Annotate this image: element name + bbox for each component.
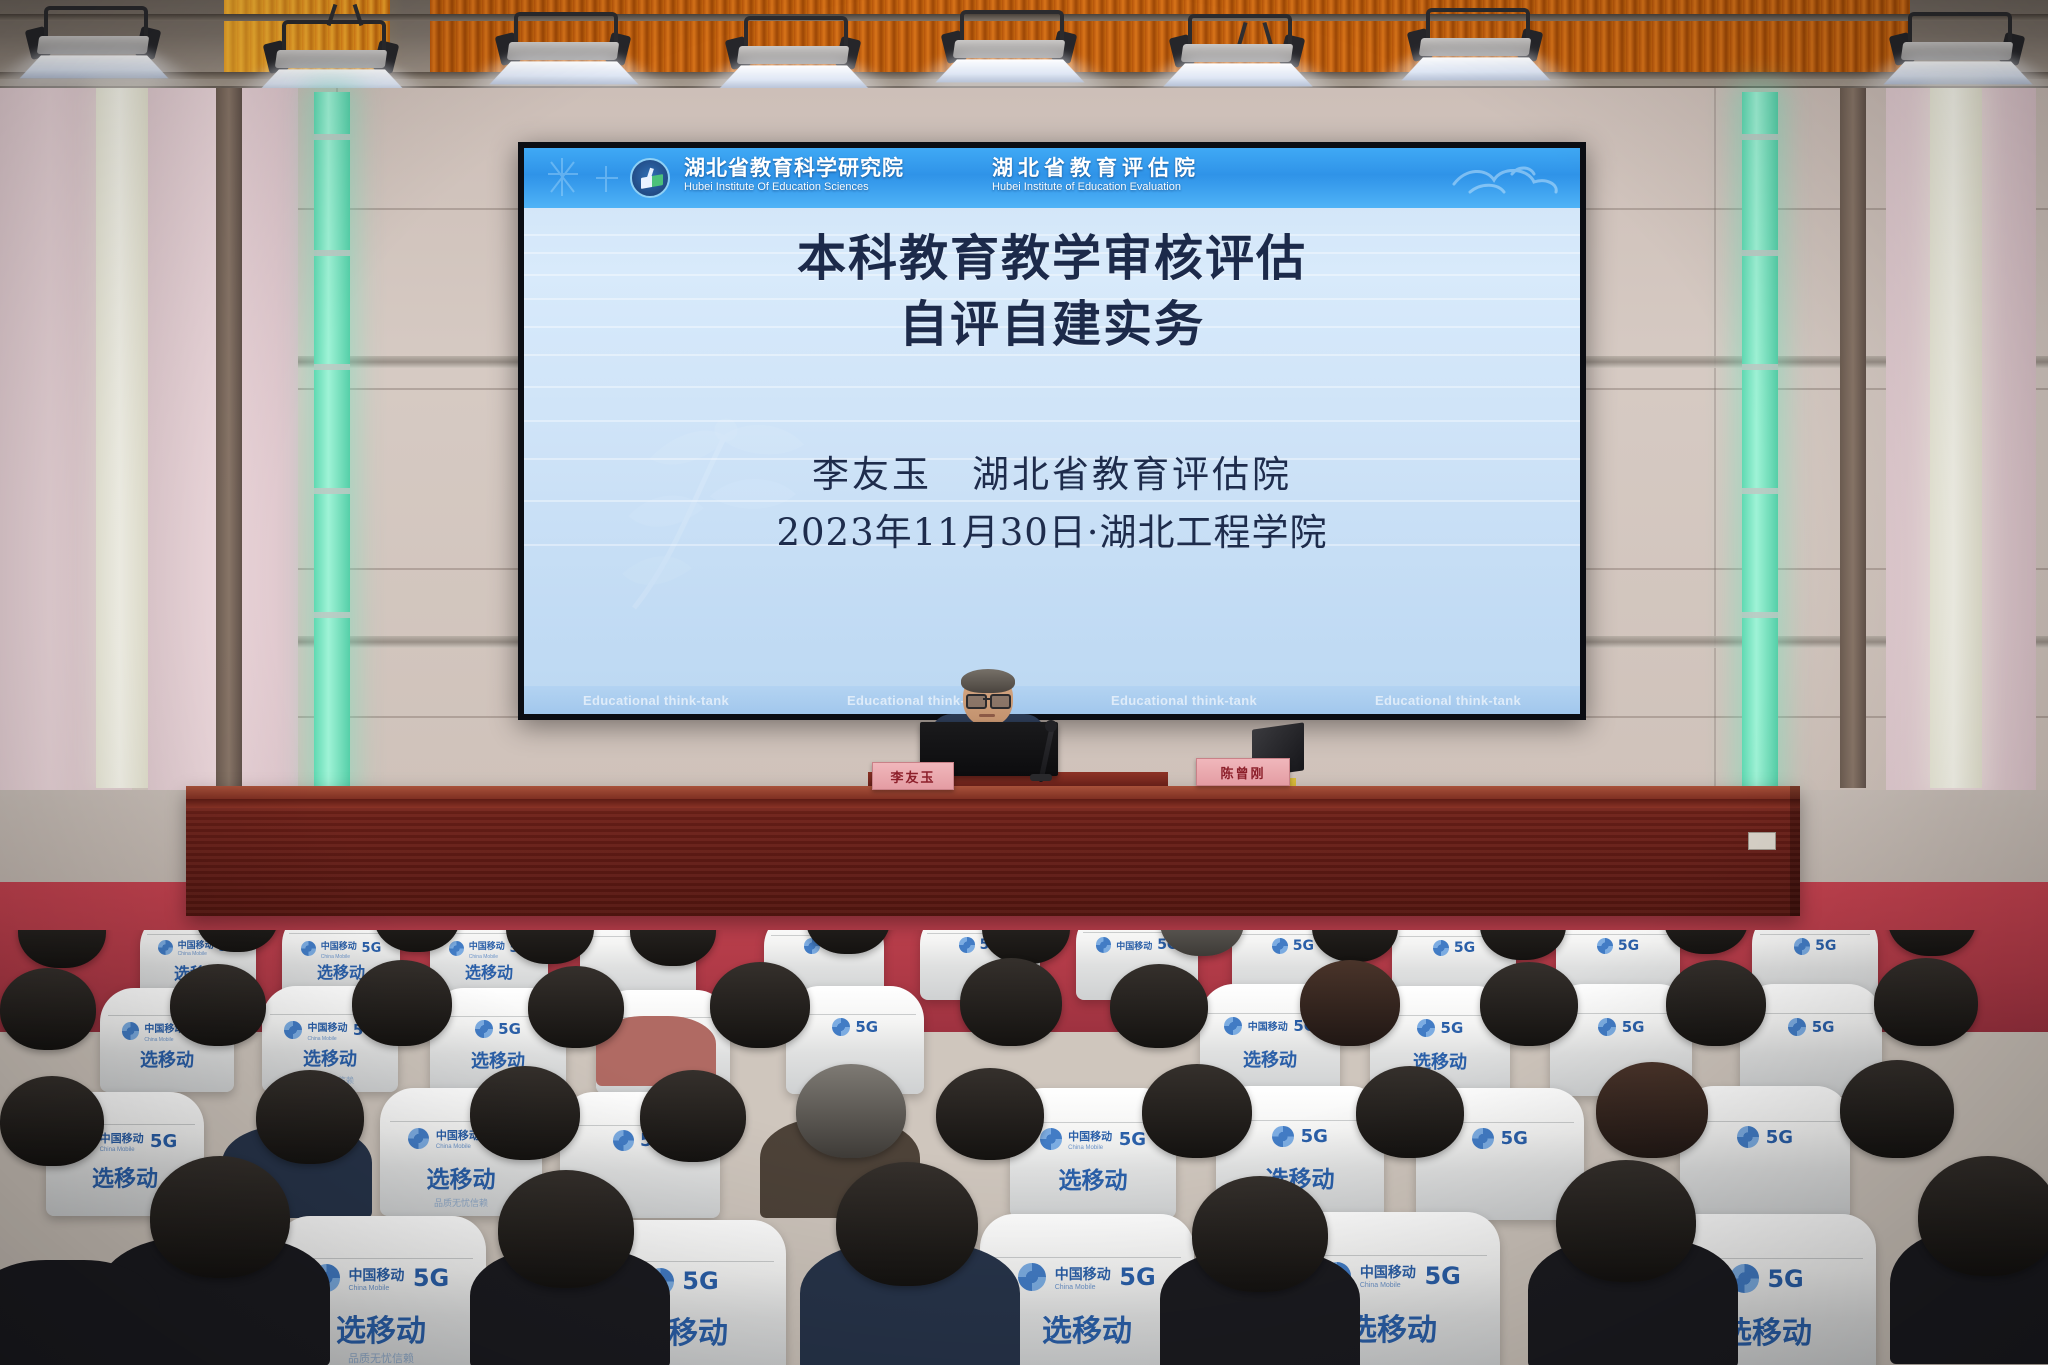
china-mobile-logo-icon: [1272, 938, 1288, 954]
slide-title: 本科教育教学审核评估 自评自建实务: [524, 226, 1580, 358]
brand-5g: 5G: [498, 1020, 521, 1038]
china-mobile-logo-icon: [301, 941, 316, 956]
brand-cn: 中国移动: [469, 942, 505, 952]
slide-title-line2: 自评自建实务: [524, 292, 1580, 358]
slide-banner: 湖北省教育科学研究院 Hubei Institute Of Education …: [524, 148, 1580, 208]
brand-en: China Mobile: [348, 1285, 404, 1292]
microphone-head-icon: [1045, 720, 1057, 732]
wall-trim-dark-left: [216, 88, 242, 788]
presenter-line: 李友玉 湖北省教育评估院: [812, 453, 1292, 496]
brand-5g: 5G: [1441, 1019, 1464, 1037]
audience-area: 中国移动 China Mobile 5G 选移动 中国移动 China Mobi…: [0, 930, 2048, 1365]
brand-en: China Mobile: [144, 1037, 184, 1043]
brand-cn: 中国移动: [1055, 1267, 1111, 1283]
wall-trim-dark-right: [1840, 88, 1866, 788]
sparkle-motif-icon: [544, 152, 634, 202]
org-right-cn: 湖北省教育评估院: [992, 156, 1200, 180]
brand-5g: 5G: [1424, 1262, 1460, 1290]
brand-5g: 5G: [150, 1131, 177, 1152]
china-mobile-logo-icon: [1417, 1019, 1435, 1037]
brand-slogan: 选移动: [262, 1045, 398, 1071]
slide-watermark-strip: Educational think-tank Educational think…: [524, 686, 1580, 714]
brand-slogan: 选移动: [100, 1046, 234, 1072]
china-mobile-logo-icon: [1472, 1128, 1494, 1150]
brand-en: China Mobile: [1055, 1284, 1111, 1291]
watermark-text: Educational think-tank: [1111, 693, 1257, 708]
china-mobile-logo-icon: [613, 1130, 634, 1151]
brand-en: China Mobile: [1068, 1145, 1112, 1151]
brand-en: China Mobile: [178, 951, 214, 957]
brand-5g: 5G: [1812, 1018, 1835, 1036]
china-mobile-logo-icon: [1737, 1126, 1759, 1148]
eyeglasses-icon: [966, 694, 987, 709]
china-mobile-logo-icon: [284, 1021, 302, 1039]
brand-cn: 中国移动: [1116, 942, 1152, 952]
microphone-base: [1030, 774, 1052, 781]
brand-5g: 5G: [1119, 1129, 1146, 1150]
nameplate-right: 陈曾刚: [1196, 758, 1290, 786]
eyeglasses-icon: [990, 694, 1011, 709]
wall-light-column-right-outer: [1930, 88, 1982, 788]
china-mobile-logo-icon: [1224, 1017, 1242, 1035]
brand-5g: 5G: [362, 941, 382, 956]
china-mobile-logo-icon: [1597, 938, 1613, 954]
projection-screen-frame: 湖北省教育科学研究院 Hubei Institute Of Education …: [518, 142, 1586, 720]
conference-hall-scene: 湖北省教育科学研究院 Hubei Institute Of Education …: [0, 0, 2048, 1365]
date-venue-line: 2023年11月30日·湖北工程学院: [524, 504, 1580, 562]
china-mobile-logo-icon: [959, 937, 975, 953]
brand-cn: 中国移动: [348, 1268, 404, 1284]
brand-5g: 5G: [1301, 1126, 1328, 1147]
audience-person: [0, 1260, 160, 1365]
brand-cn: 中国移动: [100, 1132, 144, 1145]
brand-slogan: 选移动: [430, 959, 548, 983]
brand-cn: 中国移动: [1068, 1130, 1112, 1143]
brand-en: China Mobile: [1360, 1282, 1416, 1289]
podium-front-panel: [186, 786, 1800, 916]
org-right-en: Hubei Institute of Education Evaluation: [992, 180, 1200, 194]
org-right: 湖北省教育评估院 Hubei Institute of Education Ev…: [992, 156, 1200, 194]
brand-5g: 5G: [855, 1018, 878, 1036]
brand-en: China Mobile: [436, 1144, 480, 1150]
org-left-cn: 湖北省教育科学研究院: [684, 156, 904, 180]
wall-light-column-green-right: [1742, 92, 1778, 792]
china-mobile-logo-icon: [449, 941, 464, 956]
china-mobile-logo-icon: [1096, 937, 1112, 953]
china-mobile-logo-icon: [1794, 938, 1810, 954]
china-mobile-logo-icon: [1598, 1018, 1616, 1036]
china-mobile-logo-icon: [1433, 940, 1449, 956]
ceiling: [0, 0, 2048, 92]
wall-light-column-green-left: [314, 92, 350, 792]
org-left-en: Hubei Institute Of Education Sciences: [684, 180, 904, 194]
watermark-text: Educational think-tank: [583, 693, 729, 708]
brand-5g: 5G: [413, 1264, 449, 1292]
china-mobile-logo-icon: [408, 1128, 429, 1149]
brand-5g: 5G: [1119, 1263, 1155, 1291]
china-mobile-logo-icon: [122, 1022, 139, 1039]
brand-5g: 5G: [1454, 940, 1475, 956]
brand-5g: 5G: [1622, 1018, 1645, 1036]
brand-5g: 5G: [1815, 938, 1836, 954]
org-left: 湖北省教育科学研究院 Hubei Institute Of Education …: [684, 156, 904, 194]
brand-cn: 中国移动: [321, 942, 357, 952]
watermark-text: Educational think-tank: [1375, 693, 1521, 708]
brand-5g: 5G: [682, 1267, 718, 1295]
brand-5g: 5G: [1618, 938, 1639, 954]
nameplate-left: 李友玉: [872, 762, 954, 790]
brand-en: China Mobile: [307, 1036, 347, 1042]
hubei-education-emblem-icon: [630, 158, 670, 198]
slide-title-line1: 本科教育教学审核评估: [797, 230, 1307, 287]
projection-screen: 湖北省教育科学研究院 Hubei Institute Of Education …: [524, 148, 1580, 714]
china-mobile-logo-icon: [1788, 1018, 1806, 1036]
china-mobile-logo-icon: [158, 940, 173, 955]
brand-5g: 5G: [1501, 1128, 1528, 1149]
podium-panel-label: [1748, 832, 1776, 850]
china-mobile-logo-icon: [1272, 1126, 1294, 1148]
cloud-motif-icon: [1446, 154, 1566, 200]
brand-cn: 中国移动: [1360, 1265, 1416, 1281]
china-mobile-logo-icon: [832, 1018, 850, 1036]
brand-slogan: 选移动: [1010, 1161, 1176, 1195]
brand-cn: 中国移动: [307, 1023, 347, 1034]
china-mobile-logo-icon: [1040, 1128, 1062, 1150]
brand-5g: 5G: [1293, 938, 1314, 954]
brand-en: China Mobile: [100, 1147, 144, 1153]
brand-5g: 5G: [1767, 1265, 1803, 1293]
china-mobile-logo-icon: [475, 1020, 493, 1038]
slide-subtitle: 李友玉 湖北省教育评估院 2023年11月30日·湖北工程学院: [524, 446, 1580, 562]
china-mobile-logo-icon: [1018, 1263, 1046, 1291]
brand-slogan: 选移动: [1200, 1046, 1340, 1072]
brand-5g: 5G: [1766, 1127, 1793, 1148]
brand-cn: 中国移动: [1248, 1022, 1288, 1033]
wall-light-column-left-outer: [96, 88, 148, 788]
